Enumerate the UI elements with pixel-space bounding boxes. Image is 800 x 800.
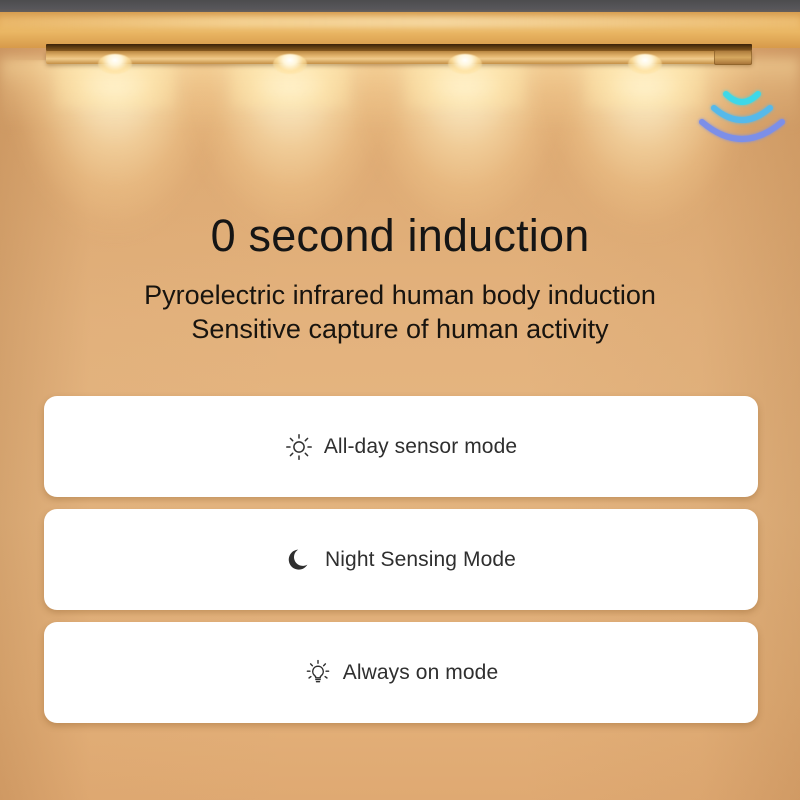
mode-label: Night Sensing Mode: [325, 548, 516, 572]
led-emitter: [273, 54, 307, 74]
led-emitter: [628, 54, 662, 74]
wifi-wave-icon: [694, 78, 790, 146]
mode-card-all-day[interactable]: All-day sensor mode: [44, 396, 758, 497]
moon-icon: [286, 546, 314, 574]
subtitle-line-1: Pyroelectric infrared human body inducti…: [0, 278, 800, 312]
led-emitter: [98, 54, 132, 74]
sun-icon: [285, 433, 313, 461]
light-bar-recess: [46, 44, 752, 51]
lightbulb-icon: [304, 659, 332, 687]
mode-card-list: All-day sensor mode Night Sensing Mode: [44, 396, 758, 735]
mode-label: Always on mode: [343, 661, 498, 685]
subtitle: Pyroelectric infrared human body inducti…: [0, 278, 800, 346]
product-feature-poster: 0 second induction Pyroelectric infrared…: [0, 0, 800, 800]
light-bar-endcap: [714, 50, 752, 65]
subtitle-line-2: Sensitive capture of human activity: [0, 312, 800, 346]
led-emitter: [448, 54, 482, 74]
mode-card-night[interactable]: Night Sensing Mode: [44, 509, 758, 610]
headline: 0 second induction: [0, 208, 800, 264]
cabinet-highlight: [0, 16, 800, 28]
mode-label: All-day sensor mode: [324, 435, 517, 459]
mode-card-always-on[interactable]: Always on mode: [44, 622, 758, 723]
